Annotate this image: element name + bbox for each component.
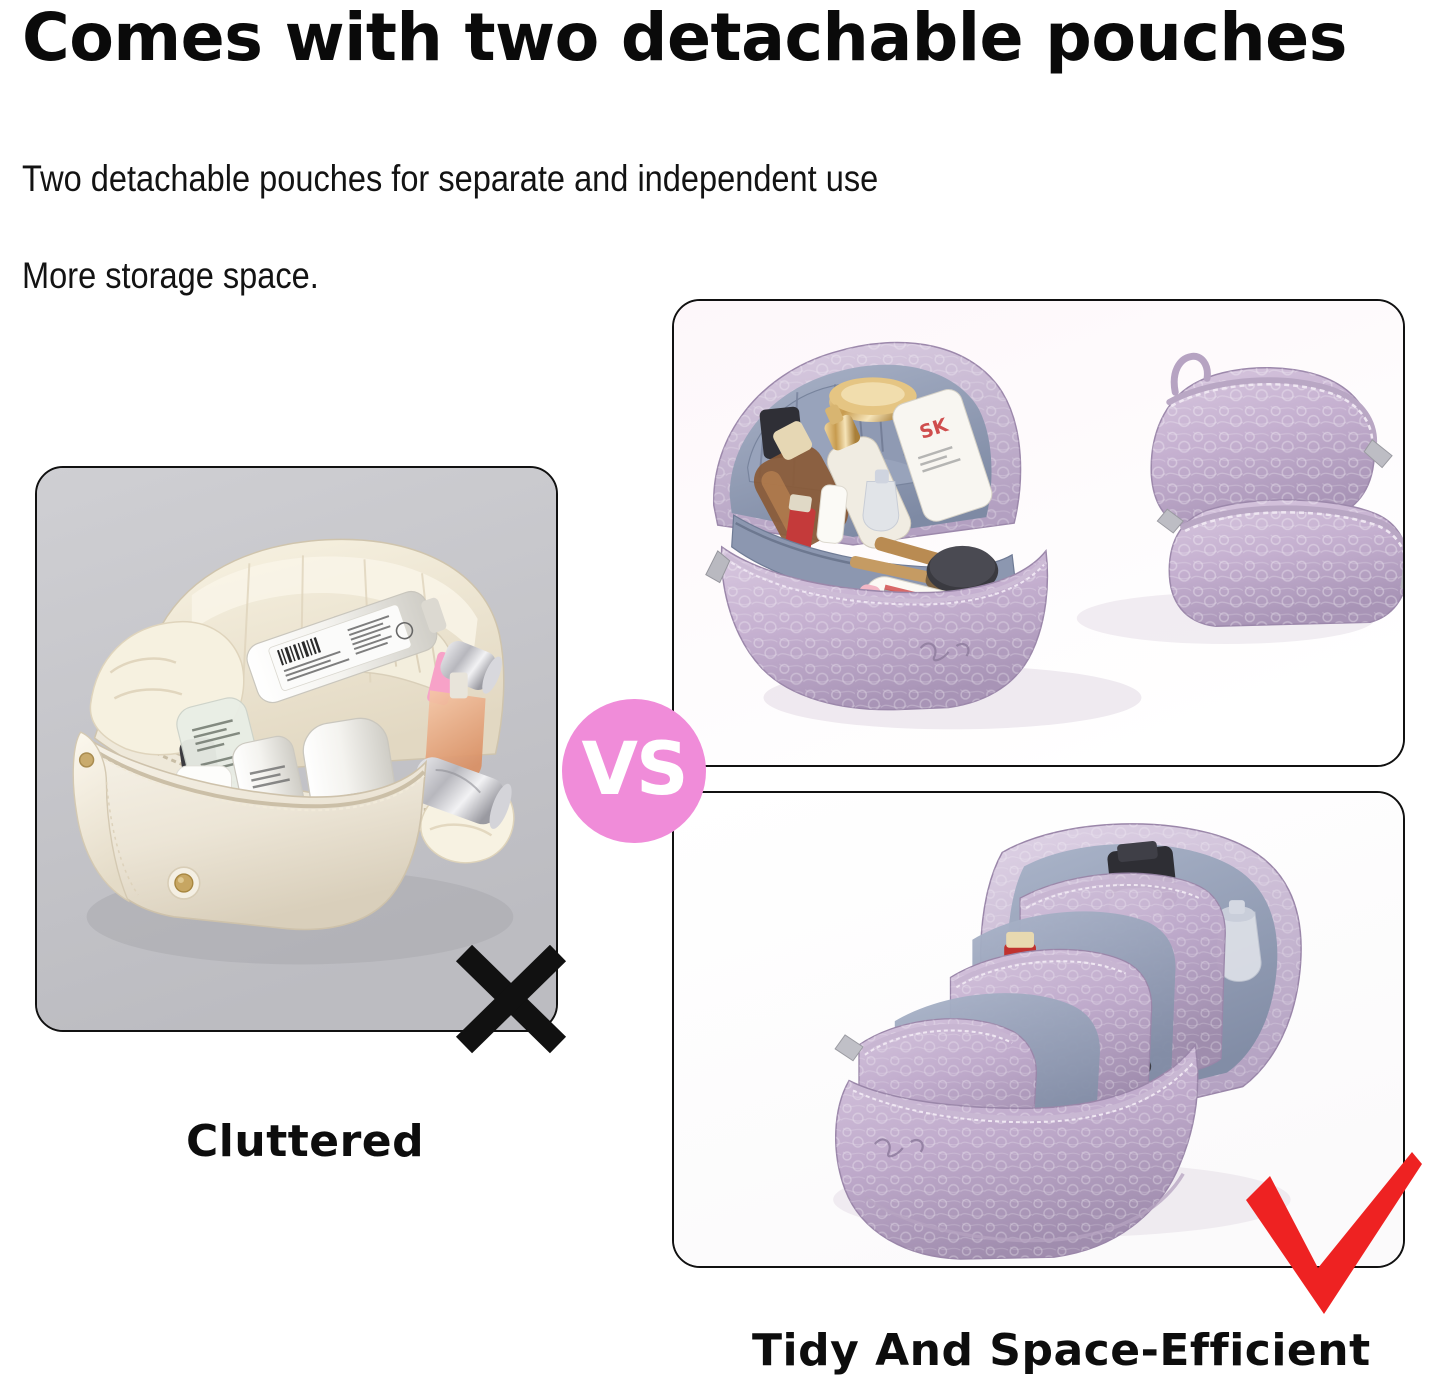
versus-label: VS xyxy=(581,733,686,806)
x-mark-icon xyxy=(452,945,570,1057)
infographic-page: Comes with two detachable pouches Two de… xyxy=(0,0,1445,1391)
cluttered-caption: Cluttered xyxy=(186,1117,424,1167)
detachable-pouches-panel: SK xyxy=(672,299,1405,767)
check-mark-icon xyxy=(1240,1148,1425,1323)
page-title: Comes with two detachable pouches xyxy=(22,2,1401,74)
subtitle-line-2: More storage space. xyxy=(22,256,319,296)
versus-badge: VS xyxy=(562,699,706,843)
subtitle-line-1: Two detachable pouches for separate and … xyxy=(22,159,878,199)
detachable-pouches-photo: SK xyxy=(674,301,1403,765)
tidy-caption: Tidy And Space-Efficient xyxy=(752,1326,1371,1376)
